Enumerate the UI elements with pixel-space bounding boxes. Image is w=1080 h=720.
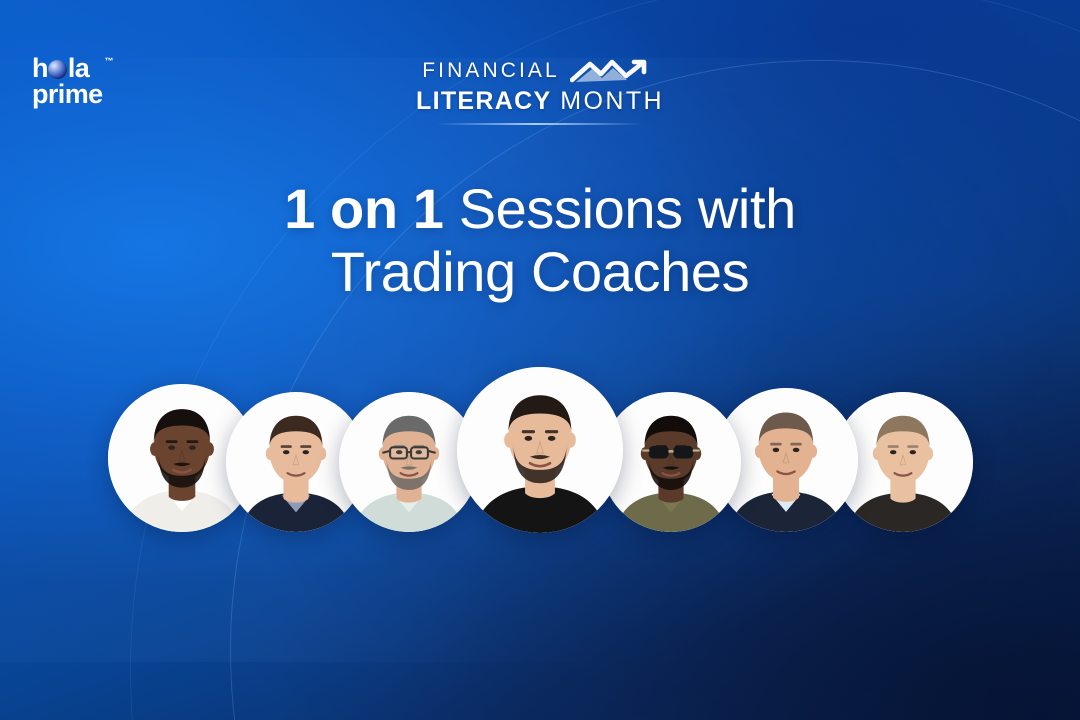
headline-rest: Sessions with [444,177,796,240]
background-sheen [0,58,1080,663]
headline-line-1: 1 on 1 Sessions with [284,177,796,240]
headline-line-2: Trading Coaches [0,241,1080,304]
badge-line-2: LITERACY MONTH [0,87,1080,116]
badge-text-month: MONTH [560,87,664,115]
badge-text-literacy: LITERACY [416,87,551,115]
background-arc-outer [230,60,1080,720]
badge-underline [437,123,643,125]
badge-text-financial: FINANCIAL [422,59,560,83]
poster-canvas: hla™ prime FINANCIAL LITERACY MONTH 1 on… [0,0,1080,720]
mountain-chart-arrow-icon [570,58,658,84]
page-title: 1 on 1 Sessions with Trading Coaches [0,178,1080,303]
coach-4[interactable] [457,367,623,533]
financial-literacy-month-badge: FINANCIAL LITERACY MONTH [0,58,1080,125]
coach-portrait-4 [457,367,623,533]
badge-line-1: FINANCIAL [422,58,658,84]
headline-emphasis: 1 on 1 [284,177,443,240]
